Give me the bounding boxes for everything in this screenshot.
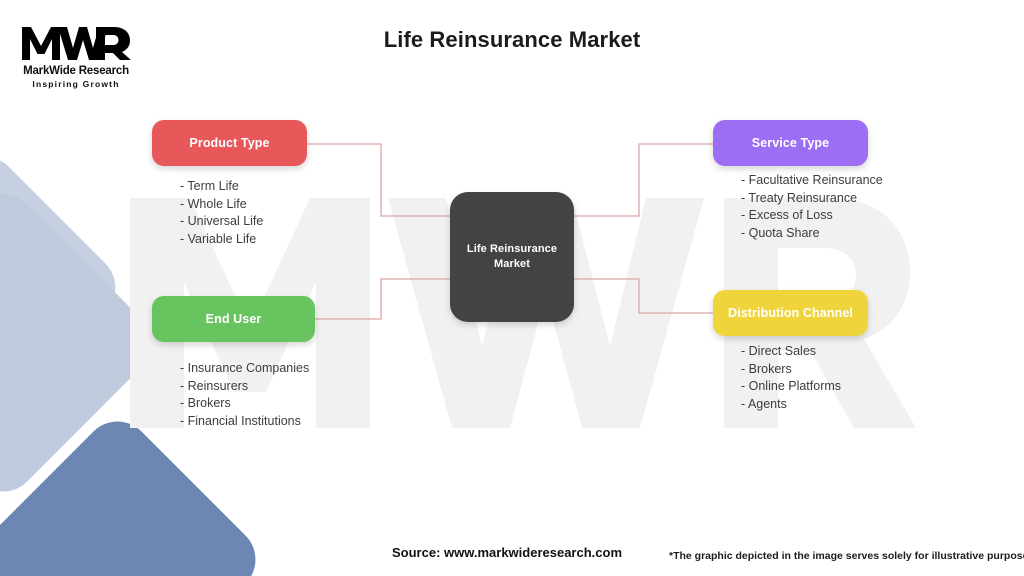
node-distribution-channel-label: Distribution Channel <box>728 306 853 320</box>
list-item: - Insurance Companies <box>180 360 309 378</box>
node-service-type[interactable]: Service Type <box>713 120 868 166</box>
node-center-life-reinsurance-market[interactable]: Life Reinsurance Market <box>450 192 574 322</box>
disclaimer-text: *The graphic depicted in the image serve… <box>669 550 1024 562</box>
list-end-user-items: - Insurance Companies - Reinsurers - Bro… <box>180 360 309 430</box>
list-item: - Online Platforms <box>741 378 841 396</box>
list-item: - Direct Sales <box>741 343 841 361</box>
node-distribution-channel[interactable]: Distribution Channel <box>713 290 868 336</box>
list-item: - Variable Life <box>180 231 263 249</box>
node-center-label-line2: Market <box>494 257 530 272</box>
node-service-type-label: Service Type <box>752 136 829 150</box>
node-end-user-label: End User <box>206 312 262 326</box>
list-item: - Universal Life <box>180 213 263 231</box>
list-product-type-items: - Term Life - Whole Life - Universal Lif… <box>180 178 263 248</box>
node-product-type[interactable]: Product Type <box>152 120 307 166</box>
source-text: Source: www.markwideresearch.com <box>392 545 622 560</box>
list-item: - Brokers <box>741 361 841 379</box>
list-item: - Whole Life <box>180 196 263 214</box>
list-item: - Agents <box>741 396 841 414</box>
list-item: - Brokers <box>180 395 309 413</box>
node-end-user[interactable]: End User <box>152 296 315 342</box>
list-service-type-items: - Facultative Reinsurance - Treaty Reins… <box>741 172 883 242</box>
list-item: - Financial Institutions <box>180 413 309 431</box>
list-item: - Treaty Reinsurance <box>741 190 883 208</box>
list-item: - Facultative Reinsurance <box>741 172 883 190</box>
list-item: - Reinsurers <box>180 378 309 396</box>
node-product-type-label: Product Type <box>189 136 269 150</box>
node-center-label-line1: Life Reinsurance <box>467 242 557 257</box>
list-distribution-channel-items: - Direct Sales - Brokers - Online Platfo… <box>741 343 841 413</box>
slide-canvas: MarkWide Research Inspiring Growth Life … <box>0 0 1024 576</box>
list-item: - Excess of Loss <box>741 207 883 225</box>
list-item: - Quota Share <box>741 225 883 243</box>
list-item: - Term Life <box>180 178 263 196</box>
